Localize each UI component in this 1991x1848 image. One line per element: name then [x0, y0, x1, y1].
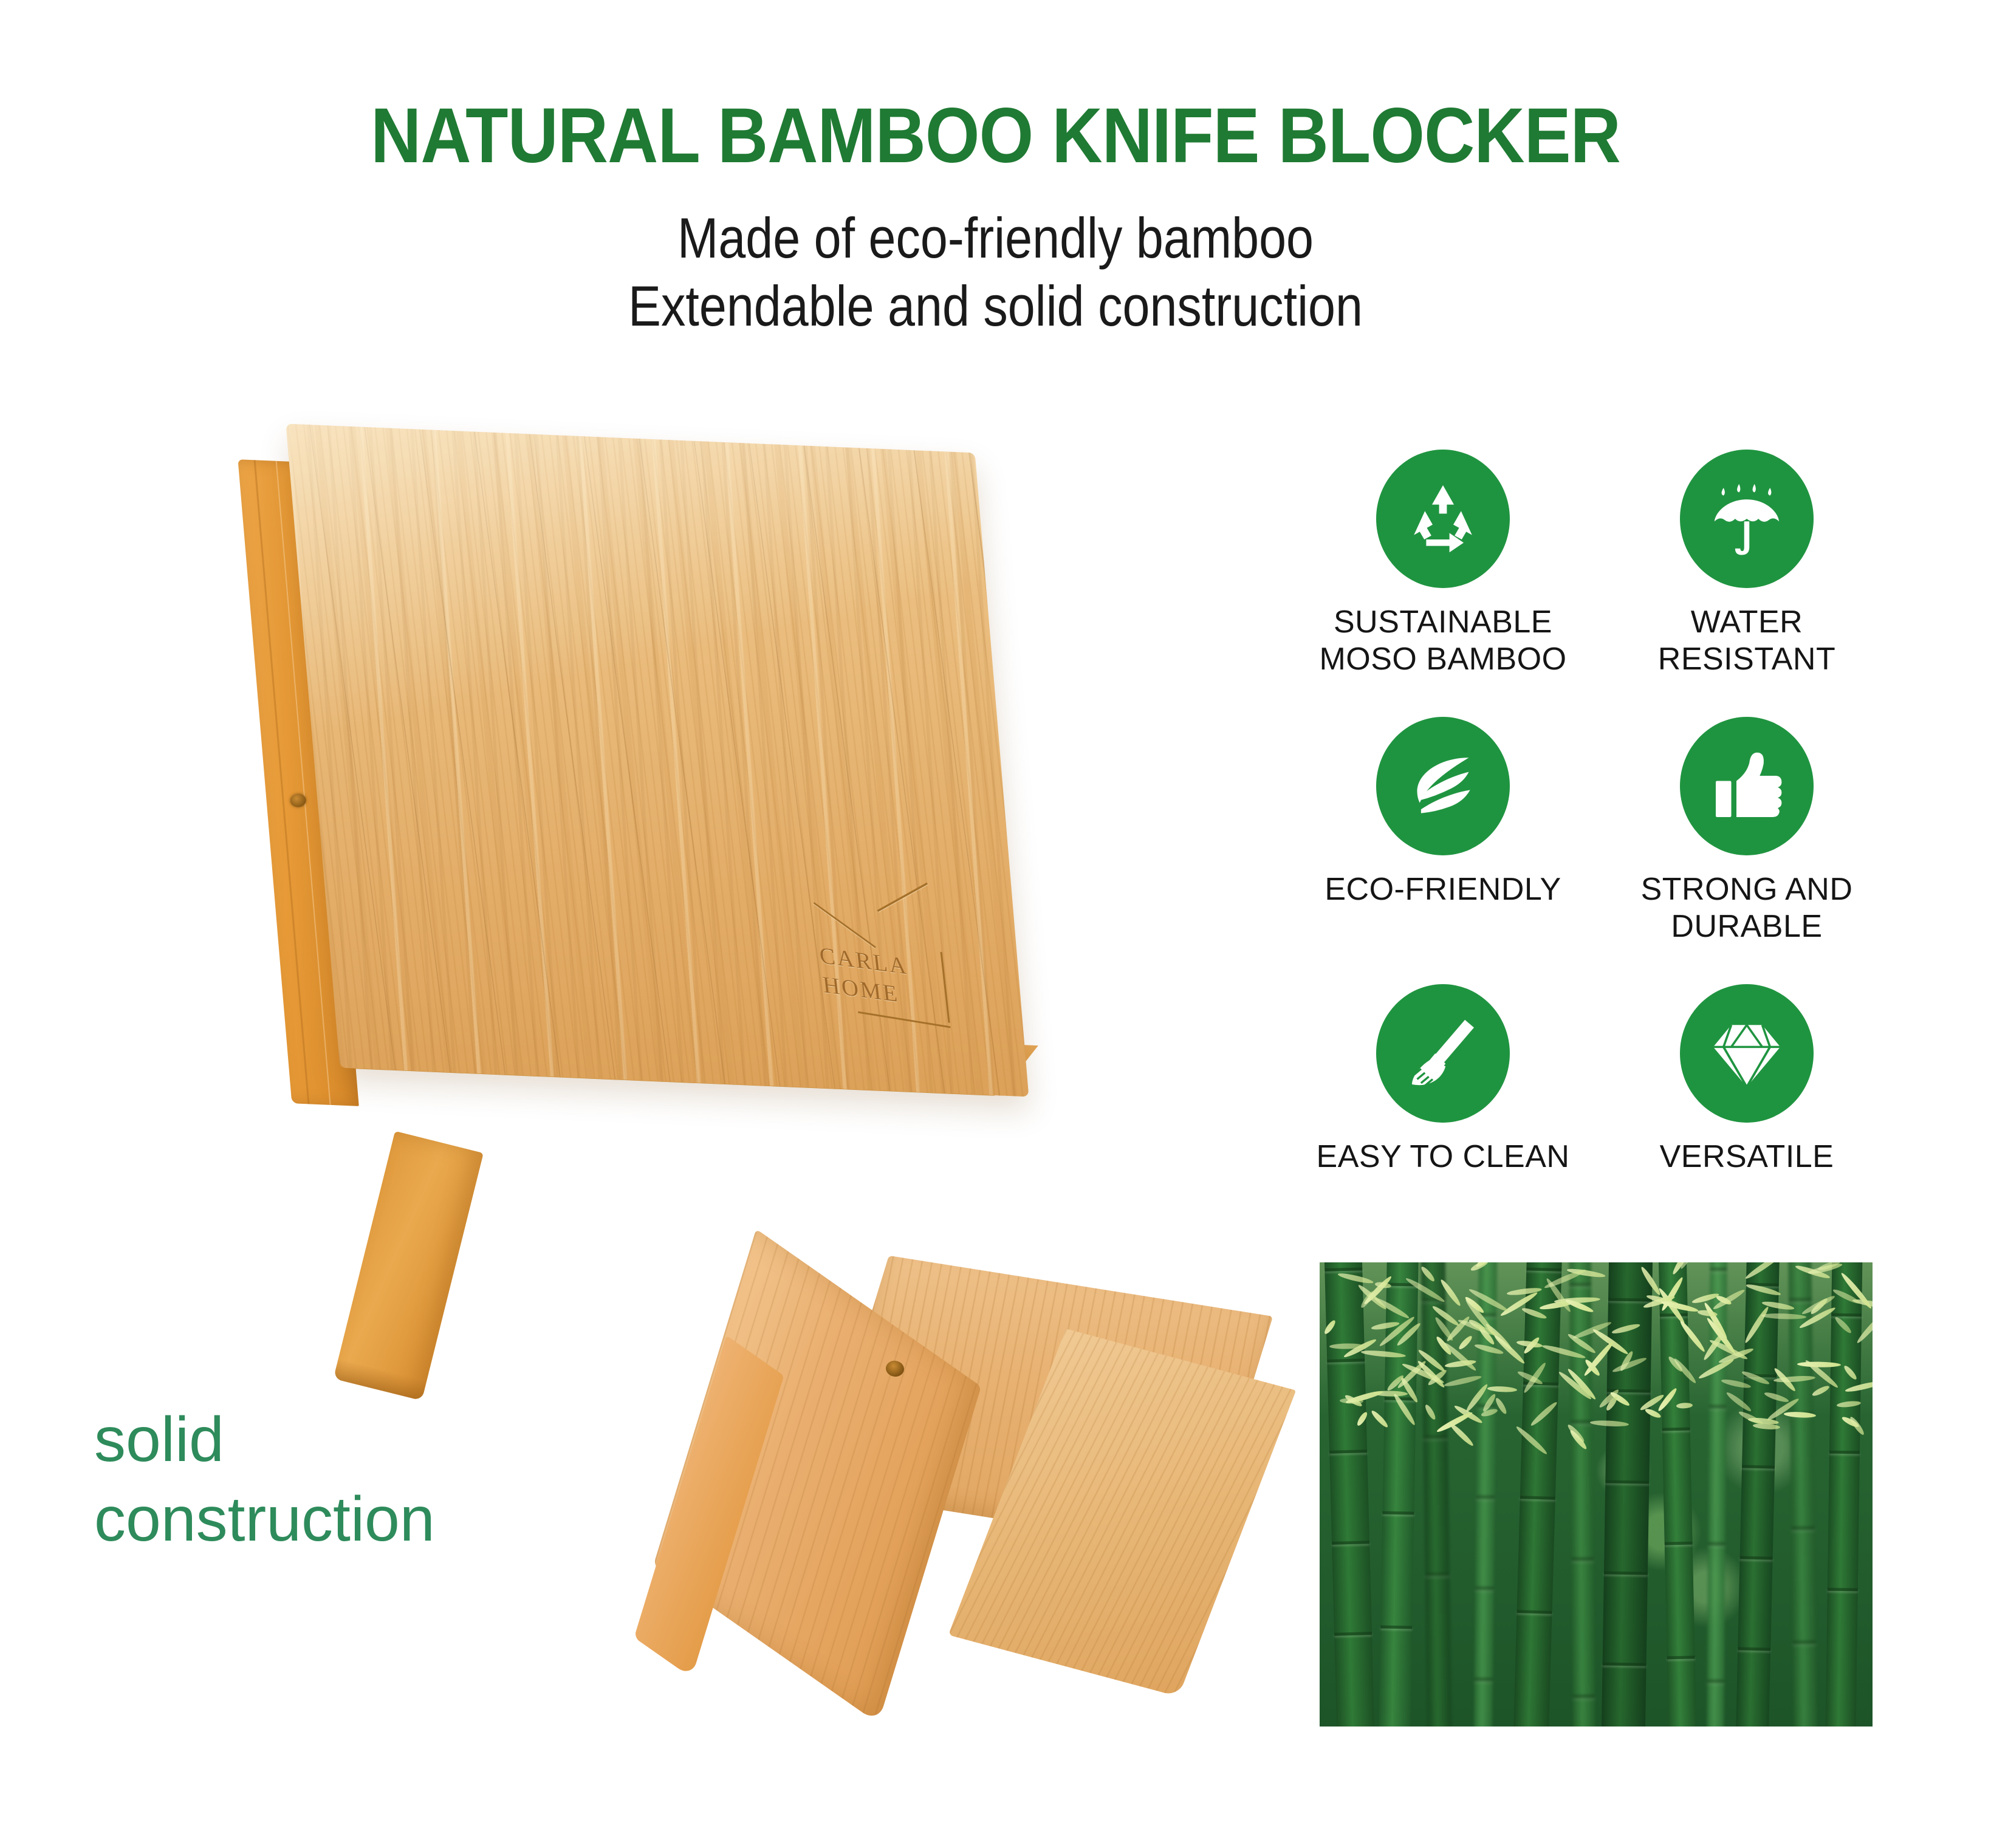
feature-label: ECO-FRIENDLY — [1303, 871, 1583, 908]
board-front-face: CARLA HOME — [286, 424, 1029, 1097]
feature-strong-and-durable[interactable]: STRONG AND DURABLE — [1607, 717, 1886, 946]
feature-badge — [1680, 984, 1814, 1123]
callout-line-2: construction — [94, 1480, 702, 1559]
broom-icon — [1402, 1012, 1484, 1095]
carla-home-engraved-logo: CARLA HOME — [808, 895, 953, 1028]
callout-line-1: solid — [94, 1400, 702, 1480]
bamboo-forest-photo — [1320, 1262, 1873, 1727]
leaf-icon — [1402, 745, 1484, 827]
solid-construction-callout: solid construction — [94, 1400, 702, 1559]
recycle-icon — [1402, 477, 1484, 560]
feature-sustainable-moso-bamboo[interactable]: SUSTAINABLE MOSO BAMBOO — [1303, 450, 1583, 679]
header: NATURAL BAMBOO KNIFE BLOCKER Made of eco… — [0, 0, 1991, 364]
feature-label: SUSTAINABLE MOSO BAMBOO — [1303, 604, 1583, 679]
diamond-icon — [1705, 1012, 1788, 1095]
feature-badge — [1376, 717, 1510, 855]
page-title: NATURAL BAMBOO KNIFE BLOCKER — [100, 91, 1891, 180]
feature-label: VERSATILE — [1607, 1138, 1886, 1176]
subtitle-line-2: Extendable and solid construction — [139, 273, 1851, 339]
feature-label-line-1: ECO-FRIENDLY — [1303, 871, 1583, 908]
feature-badge — [1376, 450, 1510, 588]
feature-label-line-1: STRONG AND — [1607, 871, 1886, 908]
feature-badge — [1680, 717, 1814, 855]
subtitle-line-1: Made of eco-friendly bamboo — [139, 205, 1851, 271]
feature-easy-to-clean[interactable]: EASY TO CLEAN — [1303, 984, 1583, 1176]
feature-label-line-1: WATER — [1607, 604, 1886, 641]
feature-label: STRONG AND DURABLE — [1607, 871, 1886, 946]
knife-block-board: CARLA HOME — [179, 375, 1170, 1210]
feature-label: EASY TO CLEAN — [1303, 1138, 1583, 1176]
feature-badge — [1376, 984, 1510, 1123]
feature-water-resistant[interactable]: WATER RESISTANT — [1607, 450, 1886, 679]
feature-eco-friendly[interactable]: ECO-FRIENDLY — [1303, 717, 1583, 908]
feature-icon-grid: SUSTAINABLE MOSO BAMBOO WATER RESISTANT — [1303, 450, 1911, 1239]
main-product-photo: CARLA HOME — [152, 389, 1233, 1251]
feature-label-line-2: RESISTANT — [1607, 641, 1886, 678]
feature-badge — [1680, 450, 1814, 588]
feature-label: WATER RESISTANT — [1607, 604, 1886, 679]
thumbs-up-icon — [1705, 745, 1788, 827]
feature-label-line-2: MOSO BAMBOO — [1303, 641, 1583, 678]
umbrella-icon — [1705, 477, 1788, 560]
detail-product-photo — [632, 1276, 1215, 1780]
feature-versatile[interactable]: VERSATILE — [1607, 984, 1886, 1176]
feature-label-line-1: VERSATILE — [1607, 1138, 1886, 1176]
feature-label-line-2: DURABLE — [1607, 908, 1886, 945]
feature-label-line-1: EASY TO CLEAN — [1303, 1138, 1583, 1176]
feature-label-line-1: SUSTAINABLE — [1303, 604, 1583, 641]
